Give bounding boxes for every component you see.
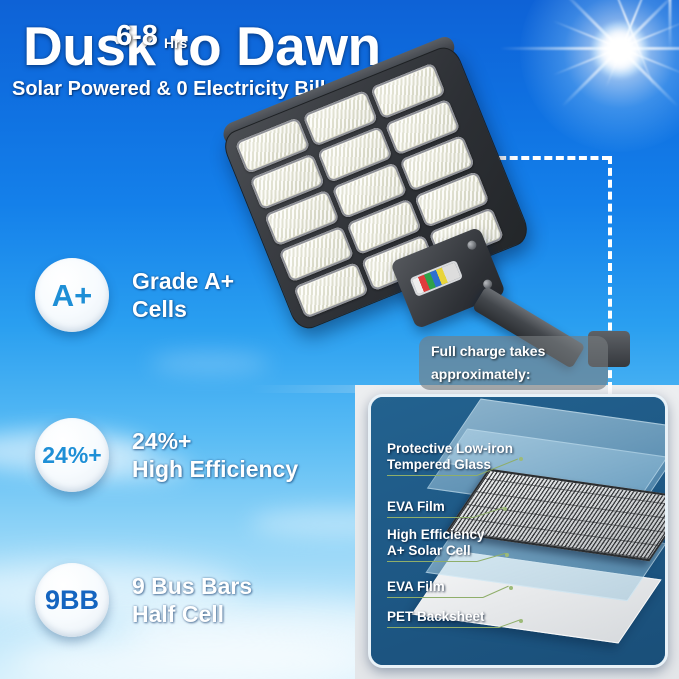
badge-efficiency: 24%+ — [35, 418, 109, 492]
feature-line-2: High Efficiency — [132, 455, 298, 483]
feature-text: Grade A+ Cells — [132, 267, 234, 323]
feature-grade-a-plus: A+ Grade A+ Cells — [35, 258, 234, 332]
layer-label-eva-bottom: EVA Film — [387, 579, 445, 595]
callout-line-2: approximately: — [431, 366, 531, 382]
leader-dot — [519, 619, 523, 623]
layer-label-line-1: Protective Low-iron — [387, 441, 513, 457]
layer-label-solar-cell: High Efficiency A+ Solar Cell — [387, 527, 485, 559]
layer-label-line-1: PET Backsheet — [387, 609, 485, 625]
product-marketing-poster: Dusk to Dawn Solar Powered & 0 Electrici… — [0, 0, 679, 679]
charge-hours-value: 6-8 — [116, 22, 158, 51]
charge-time-callout: Full charge takes approximately: — [419, 336, 608, 390]
leader-dot — [503, 507, 507, 511]
leader-line — [387, 517, 473, 518]
feature-line-2: Half Cell — [132, 600, 252, 628]
layer-label-tempered-glass: Protective Low-iron Tempered Glass — [387, 441, 513, 473]
leader-dot — [509, 586, 513, 590]
feature-line-1: 9 Bus Bars — [132, 572, 252, 600]
leader-line — [387, 597, 483, 598]
feature-line-2: Cells — [132, 295, 234, 323]
badge-label: 9BB — [45, 587, 99, 614]
layer-label-line-2: Tempered Glass — [387, 457, 513, 473]
feature-line-1: 24%+ — [132, 427, 298, 455]
solar-street-light-icon — [250, 82, 560, 352]
badge-label: 24%+ — [42, 444, 101, 467]
layer-label-line-1: High Efficiency — [387, 527, 485, 543]
leader-line — [387, 475, 477, 476]
layer-label-pet-backsheet: PET Backsheet — [387, 609, 485, 625]
badge-grade-a-plus: A+ — [35, 258, 109, 332]
leader-dot — [519, 457, 523, 461]
layer-label-line-1: EVA Film — [387, 579, 445, 595]
sun-icon — [592, 22, 648, 78]
leader-line — [387, 627, 499, 628]
solar-panel-layer-diagram: Protective Low-iron Tempered Glass EVA F… — [368, 394, 668, 668]
badge-label: A+ — [52, 280, 93, 311]
screw-icon — [466, 239, 478, 251]
cloud-shape — [150, 352, 270, 374]
layer-label-eva-top: EVA Film — [387, 499, 445, 515]
layer-label-line-2: A+ Solar Cell — [387, 543, 485, 559]
sun-ray — [500, 47, 679, 50]
feature-text: 24%+ High Efficiency — [132, 427, 298, 483]
lamp-label-sticker — [412, 262, 461, 294]
charge-hours-unit: Hrs — [164, 35, 187, 51]
feature-high-efficiency: 24%+ 24%+ High Efficiency — [35, 418, 298, 492]
badge-bus-bars: 9BB — [35, 563, 109, 637]
leader-dot — [505, 553, 509, 557]
callout-line-1: Full charge takes — [431, 343, 545, 359]
leader-line — [387, 561, 477, 562]
feature-bus-bars: 9BB 9 Bus Bars Half Cell — [35, 563, 252, 637]
feature-line-1: Grade A+ — [132, 267, 234, 295]
feature-text: 9 Bus Bars Half Cell — [132, 572, 252, 628]
page-title: Dusk to Dawn — [23, 14, 381, 78]
layer-label-line-1: EVA Film — [387, 499, 445, 515]
